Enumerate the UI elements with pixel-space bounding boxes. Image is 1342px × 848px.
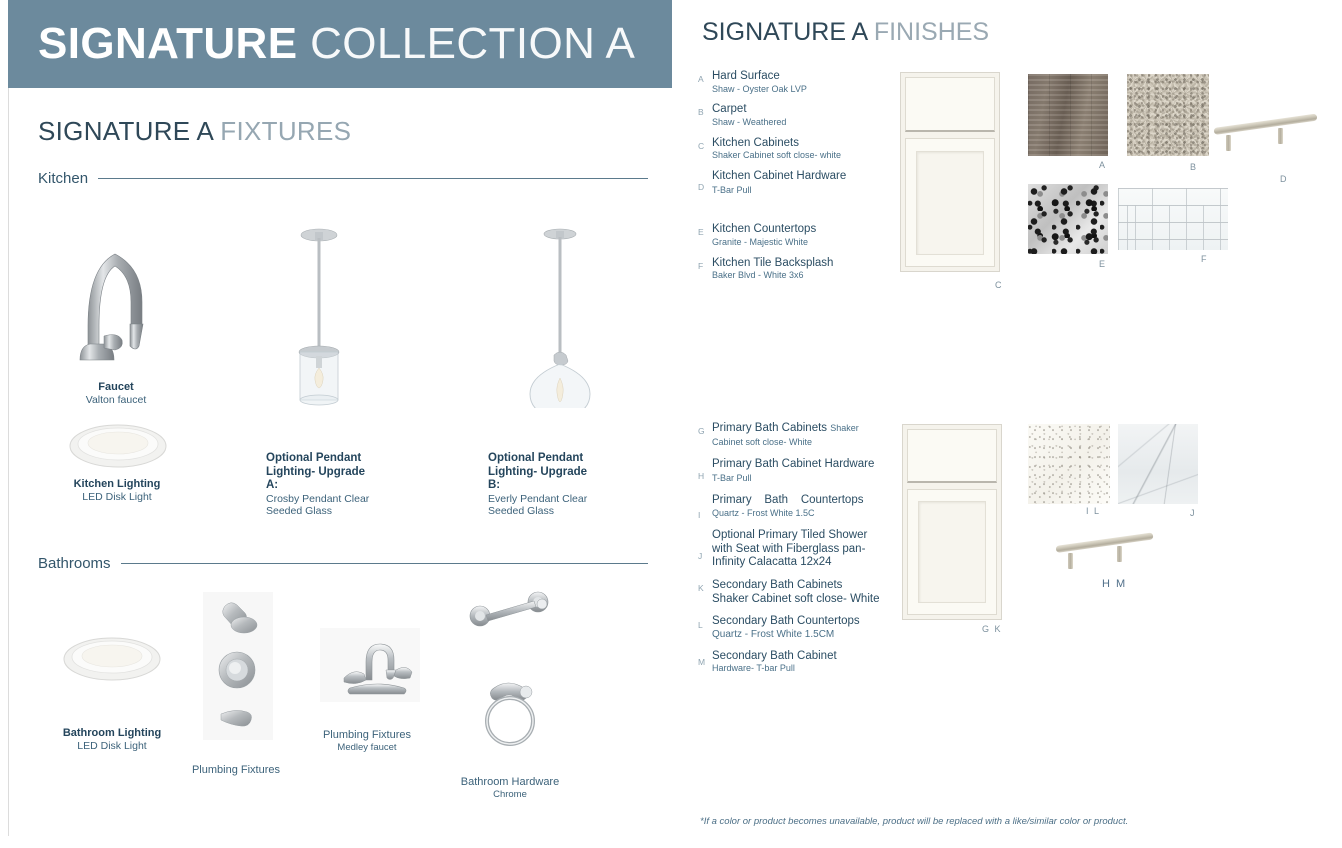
legend-item-j: J Optional Primary Tiled Shower with Sea… (698, 529, 880, 570)
legend-name: Kitchen Countertops (712, 223, 878, 237)
legend-sub: Quartz - Frost White 1.5C (712, 508, 880, 519)
lav-faucet-photo (320, 628, 420, 702)
swatch-marble-tile (1118, 424, 1198, 504)
pendant-b-photo (524, 222, 596, 408)
legend-item-c: C Kitchen Cabinets Shaker Cabinet soft c… (698, 137, 878, 161)
disk-light-photo-kitchen (68, 420, 168, 472)
legend-name: Hard Surface (712, 70, 878, 84)
caption-medley-sub: Medley faucet (312, 742, 422, 753)
faucet-photo (68, 228, 162, 368)
cabinet-inner-panel (916, 151, 985, 255)
caption-medley-name: Plumbing Fixtures (312, 729, 422, 742)
swatch-label-a: A (1099, 160, 1107, 170)
legend-name: Secondary Bath Countertops (712, 615, 880, 629)
legend-name: Primary Bath Cabinets (712, 422, 827, 434)
caption-plumbing-fixtures: Plumbing Fixtures (176, 764, 296, 777)
legend-key: A (698, 70, 712, 94)
legend-key: G (698, 422, 712, 449)
towel-ring-icon (474, 676, 550, 750)
caption-faucet-name: Faucet (46, 381, 186, 394)
legend-key: K (698, 579, 712, 606)
swatch-bath-cabinet-door (902, 424, 1002, 620)
pull-bar (1214, 114, 1318, 135)
swatch-kitchen-cabinet-door (900, 72, 1000, 272)
legend-name: Primary Bath Cabinet Hardware (712, 458, 880, 472)
legend-inline: T-Bar Pull (712, 185, 752, 195)
legend-item-e: E Kitchen Countertops Granite - Majestic… (698, 223, 878, 247)
swatch-granite (1028, 184, 1108, 254)
legend-item-a: A Hard Surface Shaw - Oyster Oak LVP (698, 70, 878, 94)
swatch-label-hm: H M (1102, 578, 1127, 590)
caption-kitchen-lighting-name: Kitchen Lighting (47, 478, 187, 491)
legend-sub: Baker Blvd - White 3x6 (712, 270, 878, 281)
fixtures-section-title: SIGNATURE A FIXTURES (38, 116, 351, 147)
legend-sub: Shaw - Weathered (712, 117, 878, 128)
caption-pendant-b: Optional Pendant Lighting- Upgrade B: Ev… (488, 452, 600, 517)
legend-name: Secondary Bath Cabinets (712, 579, 880, 593)
legend-sub: Granite - Majestic White (712, 237, 878, 248)
cabinet-door-panel (905, 138, 995, 267)
swatch-hard-surface (1028, 74, 1108, 156)
fixtures-title-dark: SIGNATURE A (38, 116, 213, 146)
legend-sub: Quartz - Frost White 1.5CM (712, 629, 880, 641)
legend-item-d: D Kitchen Cabinet Hardware T-Bar Pull (698, 170, 878, 197)
finishes-legend-top: A Hard Surface Shaw - Oyster Oak LVP B C… (698, 70, 878, 290)
swatch-carpet (1127, 74, 1209, 156)
caption-bathroom-hardware-name: Bathroom Hardware (450, 776, 570, 789)
caption-bathroom-hardware-sub: Chrome (450, 789, 570, 800)
legend-sub: Shaker Cabinet soft close- white (712, 150, 878, 161)
legend-key: M (698, 650, 712, 674)
cabinet-drawer-front (907, 429, 997, 483)
group-rule (121, 563, 648, 564)
group-rule (98, 178, 648, 179)
swatch-label-d: D (1280, 174, 1288, 184)
caption-pendant-a-name: Optional Pendant Lighting- Upgrade A: (266, 452, 376, 493)
finishes-section-title: SIGNATURE A FINISHES (702, 18, 989, 47)
page-title: SIGNATURE COLLECTION A (38, 19, 635, 69)
legend-key: B (698, 103, 712, 127)
caption-kitchen-lighting: Kitchen Lighting LED Disk Light (47, 478, 187, 503)
page-title-bold: SIGNATURE (38, 19, 297, 68)
legend-key: E (698, 223, 712, 247)
pendant-a-photo (288, 222, 350, 408)
towel-bar-photo (466, 588, 556, 648)
legend-key: C (698, 137, 712, 161)
column-divider (8, 88, 9, 836)
legend-item-f: F Kitchen Tile Backsplash Baker Blvd - W… (698, 257, 878, 281)
caption-pendant-a: Optional Pendant Lighting- Upgrade A: Cr… (266, 452, 376, 517)
swatch-label-j: J (1190, 508, 1196, 518)
swatch-quartz (1028, 424, 1110, 504)
finishes-legend-bottom: G Primary Bath Cabinets Shaker Cabinet s… (698, 422, 880, 683)
pull-post (1117, 546, 1122, 562)
pendant-b-icon (524, 222, 596, 408)
caption-pendant-b-sub: Everly Pendant Clear Seeded Glass (488, 493, 600, 518)
legend-inline: T-Bar Pull (712, 473, 752, 483)
group-label-bathrooms: Bathrooms (38, 555, 111, 572)
fixtures-title-grey: FIXTURES (220, 116, 351, 146)
legend-item-k: K Secondary Bath Cabinets Shaker Cabinet… (698, 579, 880, 606)
page-header-bar: SIGNATURE COLLECTION A (8, 0, 672, 88)
lav-faucet-icon (320, 628, 420, 702)
swatch-label-b: B (1190, 162, 1198, 172)
legend-key: L (698, 615, 712, 641)
legend-name: Primary Bath Countertops (712, 494, 880, 508)
legend-sub: Optional Primary Tiled Shower with Seat … (712, 529, 880, 570)
disk-light-icon (68, 420, 168, 472)
towel-ring-photo (474, 676, 550, 750)
swatch-label-gk: G K (982, 624, 1002, 634)
cabinet-inner-panel (918, 501, 987, 603)
swatch-bath-pull (1056, 540, 1154, 574)
finishes-title-grey: FINISHES (874, 18, 989, 46)
legend-key: D (698, 170, 712, 197)
pull-bar (1056, 532, 1154, 553)
disk-light-photo-bath (62, 633, 162, 685)
caption-bathroom-hardware: Bathroom Hardware Chrome (450, 776, 570, 800)
caption-bathroom-lighting: Bathroom Lighting LED Disk Light (44, 727, 180, 752)
finishes-title-dark: SIGNATURE A (702, 18, 867, 46)
legend-name: Secondary Bath Cabinet (712, 650, 880, 664)
page-title-light: COLLECTION A (310, 19, 635, 68)
cabinet-drawer-front (905, 77, 995, 132)
legend-item-m: M Secondary Bath Cabinet Hardware- T-bar… (698, 650, 880, 674)
cabinet-door-panel (907, 489, 997, 615)
swatch-label-c: C (995, 280, 1003, 290)
group-header-bathrooms: Bathrooms (38, 555, 648, 572)
swatch-backsplash (1118, 188, 1228, 250)
shower-trim-icon (203, 592, 273, 740)
legend-name: Kitchen Cabinet Hardware (712, 170, 878, 184)
pull-post (1278, 128, 1283, 144)
swatch-label-f: F (1201, 254, 1208, 264)
pull-post (1068, 553, 1073, 569)
legend-name: Carpet (712, 103, 878, 117)
caption-bathroom-lighting-name: Bathroom Lighting (44, 727, 180, 740)
legend-name: Kitchen Tile Backsplash (712, 257, 878, 271)
towel-bar-icon (466, 588, 556, 648)
group-label-kitchen: Kitchen (38, 170, 88, 187)
legend-key: J (698, 529, 712, 570)
faucet-icon (68, 228, 162, 368)
legend-item-h: H Primary Bath Cabinet Hardware T-Bar Pu… (698, 458, 880, 485)
legend-item-l: L Secondary Bath Countertops Quartz - Fr… (698, 615, 880, 641)
legend-key: H (698, 458, 712, 485)
caption-pendant-a-sub: Crosby Pendant Clear Seeded Glass (266, 493, 376, 518)
swatch-label-il: I L (1086, 506, 1101, 516)
caption-faucet: Faucet Valton faucet (46, 381, 186, 406)
legend-sub: Shaker Cabinet soft close- White (712, 593, 880, 607)
legend-sub: Shaw - Oyster Oak LVP (712, 84, 878, 95)
caption-plumbing-fixtures-name: Plumbing Fixtures (176, 764, 296, 777)
disk-light-icon (62, 633, 162, 685)
caption-kitchen-lighting-sub: LED Disk Light (47, 491, 187, 503)
caption-faucet-sub: Valton faucet (46, 394, 186, 406)
legend-key: F (698, 257, 712, 281)
legend-item-g: G Primary Bath Cabinets Shaker Cabinet s… (698, 422, 880, 449)
legend-name: Kitchen Cabinets (712, 137, 878, 151)
caption-medley-faucet: Plumbing Fixtures Medley faucet (312, 729, 422, 753)
legend-item-b: B Carpet Shaw - Weathered (698, 103, 878, 127)
swatch-label-e: E (1099, 259, 1107, 269)
group-header-kitchen: Kitchen (38, 170, 648, 187)
caption-bathroom-lighting-sub: LED Disk Light (44, 740, 180, 752)
swatch-kitchen-pull (1214, 122, 1318, 156)
finishes-footnote: *If a color or product becomes unavailab… (700, 816, 1128, 827)
caption-pendant-b-name: Optional Pendant Lighting- Upgrade B: (488, 452, 600, 493)
finishes-column: SIGNATURE A FINISHES A Hard Surface Shaw… (690, 0, 1342, 848)
pendant-a-icon (288, 222, 350, 408)
legend-sub: Hardware- T-bar Pull (712, 663, 880, 674)
shower-trim-photo (203, 592, 273, 740)
legend-item-i: I Primary Bath Countertops Quartz - Fros… (698, 494, 880, 520)
pull-post (1226, 135, 1231, 151)
fixtures-column: SIGNATURE COLLECTION A SIGNATURE A FIXTU… (0, 0, 680, 848)
collection-sheet: SIGNATURE COLLECTION A SIGNATURE A FIXTU… (0, 0, 1342, 848)
legend-key: I (698, 494, 712, 520)
